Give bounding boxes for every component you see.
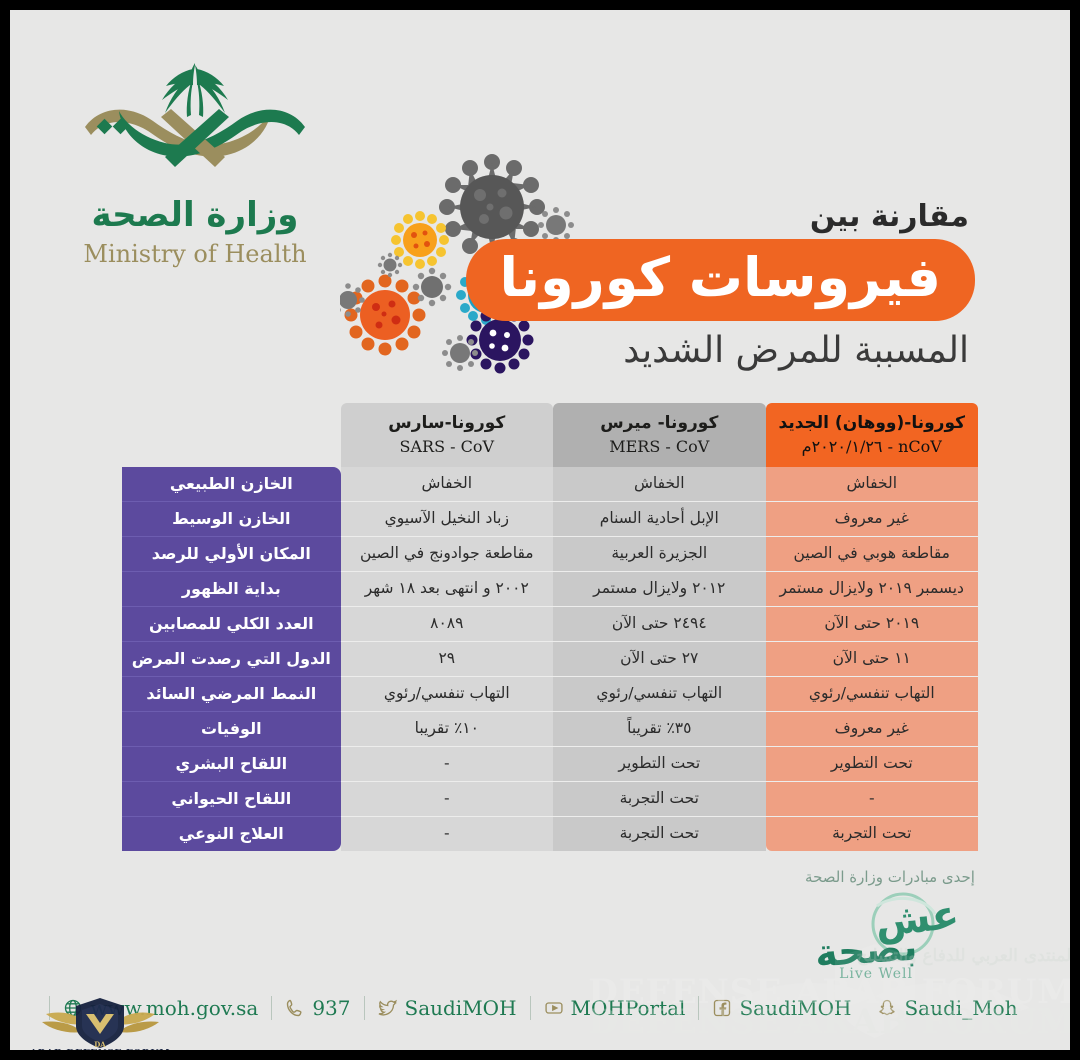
snapchat-icon bbox=[877, 998, 897, 1018]
cell-mers: الخفاش bbox=[553, 467, 765, 502]
cell-sars: - bbox=[341, 817, 553, 851]
cell-mers: ٢٧ حتى الآن bbox=[553, 642, 765, 677]
footer-contact-text: Saudi_Moh bbox=[904, 996, 1017, 1020]
row-label: العلاج النوعي bbox=[122, 817, 341, 851]
cell-mers: تحت التطوير bbox=[553, 747, 765, 782]
header-sars-en: SARS - CoV bbox=[347, 437, 547, 457]
cell-mers: ٢٠١٢ ولايزال مستمر bbox=[553, 572, 765, 607]
live-well-logo: عش بصحة Live Well bbox=[785, 890, 995, 976]
table-row: ١١ حتى الآن٢٧ حتى الآن٢٩الدول التي رصدت … bbox=[122, 642, 978, 677]
youtube-icon bbox=[544, 998, 564, 1018]
column-header-labels-spacer bbox=[122, 403, 341, 467]
phone-icon bbox=[285, 998, 305, 1018]
footer-contact-text: 937 bbox=[312, 996, 350, 1020]
cell-ncov: غير معروف bbox=[766, 712, 978, 747]
table-row: مقاطعة هوبي في الصينالجزيرة العربيةمقاطع… bbox=[122, 537, 978, 572]
cell-ncov: تحت التجربة bbox=[766, 817, 978, 851]
cell-sars: ٢٩ bbox=[341, 642, 553, 677]
cell-mers: تحت التجربة bbox=[553, 817, 765, 851]
table-body: الخفاشالخفاشالخفاشالخازن الطبيعيغير معرو… bbox=[122, 467, 978, 851]
comparison-table-wrapper: كورونا-(ووهان) الجديد nCoV - ٢٠٢٠/١/٢٦م … bbox=[122, 403, 978, 851]
table-row: تحت التجربةتحت التجربة-العلاج النوعي bbox=[122, 817, 978, 851]
cell-ncov: غير معروف bbox=[766, 502, 978, 537]
title-main-badge: فيروسات كورونا bbox=[466, 239, 975, 321]
cell-sars: زباد النخيل الآسيوي bbox=[341, 502, 553, 537]
poster-title: مقارنة بين فيروسات كورونا المسببة للمرض … bbox=[355, 200, 975, 372]
table-row: غير معروف٣٥٪ تقريباً١٠٪ تقريباالوفيات bbox=[122, 712, 978, 747]
table-row: ٢٠١٩ حتى الآن٢٤٩٤ حتى الآن٨٠٨٩العدد الكل… bbox=[122, 607, 978, 642]
cell-mers: ٣٥٪ تقريباً bbox=[553, 712, 765, 747]
footer-contact-text: SaudiMOH bbox=[405, 996, 517, 1020]
cell-ncov: الخفاش bbox=[766, 467, 978, 502]
moh-emblem-icon bbox=[65, 55, 325, 195]
cell-sars: ١٠٪ تقريبا bbox=[341, 712, 553, 747]
table-row: الخفاشالخفاشالخفاشالخازن الطبيعي bbox=[122, 467, 978, 502]
table-row: -تحت التجربة-اللقاح الحيواني bbox=[122, 782, 978, 817]
cell-mers: الإبل أحادية السنام bbox=[553, 502, 765, 537]
live-well-english: Live Well bbox=[839, 966, 913, 982]
footer-contact-phone[interactable]: 937 bbox=[271, 996, 363, 1020]
cell-sars: مقاطعة جوادونج في الصين bbox=[341, 537, 553, 572]
initiative-caption: إحدى مبادرات وزارة الصحة bbox=[785, 868, 995, 886]
cell-mers: ٢٤٩٤ حتى الآن bbox=[553, 607, 765, 642]
footer-contact-snapchat[interactable]: Saudi_Moh bbox=[864, 996, 1030, 1020]
row-label: العدد الكلي للمصابين bbox=[122, 607, 341, 642]
cell-ncov: مقاطعة هوبي في الصين bbox=[766, 537, 978, 572]
table-row: غير معروفالإبل أحادية السنامزباد النخيل … bbox=[122, 502, 978, 537]
cell-sars: ٢٠٠٢ و انتهى بعد ١٨ شهر bbox=[341, 572, 553, 607]
live-well-initiative: إحدى مبادرات وزارة الصحة عش بصحة Live We… bbox=[785, 868, 995, 976]
footer-contact-twitter[interactable]: SaudiMOH bbox=[364, 996, 530, 1020]
coronavirus-comparison-table: كورونا-(ووهان) الجديد nCoV - ٢٠٢٠/١/٢٦م … bbox=[122, 403, 978, 851]
cell-sars: - bbox=[341, 782, 553, 817]
cell-sars: التهاب تنفسي/رئوي bbox=[341, 677, 553, 712]
cell-mers: الجزيرة العربية bbox=[553, 537, 765, 572]
arab-defense-forum-watermark: DA ARAB DEFENSE FORUM bbox=[28, 988, 173, 1050]
footer-contact-youtube[interactable]: MOHPortal bbox=[530, 996, 699, 1020]
table-header-row: كورونا-(ووهان) الجديد nCoV - ٢٠٢٠/١/٢٦م … bbox=[122, 403, 978, 467]
cell-mers: تحت التجربة bbox=[553, 782, 765, 817]
cell-sars: ٨٠٨٩ bbox=[341, 607, 553, 642]
table-row: تحت التطويرتحت التطوير-اللقاح البشري bbox=[122, 747, 978, 782]
logo-english-name: Ministry of Health bbox=[65, 240, 325, 268]
cell-ncov: ديسمبر ٢٠١٩ ولايزال مستمر bbox=[766, 572, 978, 607]
row-label: الخازن الوسيط bbox=[122, 502, 341, 537]
table-row: ديسمبر ٢٠١٩ ولايزال مستمر٢٠١٢ ولايزال مس… bbox=[122, 572, 978, 607]
header-mers-en: MERS - CoV bbox=[559, 437, 759, 457]
row-label: اللقاح البشري bbox=[122, 747, 341, 782]
cell-mers: التهاب تنفسي/رئوي bbox=[553, 677, 765, 712]
facebook-icon bbox=[712, 998, 732, 1018]
footer-contact-text: SaudiMOH bbox=[739, 996, 851, 1020]
ministry-of-health-logo: وزارة الصحة Ministry of Health bbox=[65, 55, 325, 270]
cell-ncov: التهاب تنفسي/رئوي bbox=[766, 677, 978, 712]
cell-ncov: تحت التطوير bbox=[766, 747, 978, 782]
row-label: اللقاح الحيواني bbox=[122, 782, 341, 817]
cell-sars: - bbox=[341, 747, 553, 782]
cell-ncov: - bbox=[766, 782, 978, 817]
cell-sars: الخفاش bbox=[341, 467, 553, 502]
footer-contact-facebook[interactable]: SaudiMOH bbox=[698, 996, 864, 1020]
row-label: الخازن الطبيعي bbox=[122, 467, 341, 502]
poster-canvas: وزارة الصحة Ministry of Health bbox=[10, 10, 1070, 1050]
svg-text:ARAB DEFENSE FORUM: ARAB DEFENSE FORUM bbox=[29, 1048, 170, 1050]
logo-arabic-name: وزارة الصحة bbox=[65, 195, 325, 235]
header-ncov-ar: كورونا-(ووهان) الجديد bbox=[779, 413, 965, 433]
column-header-ncov: كورونا-(ووهان) الجديد nCoV - ٢٠٢٠/١/٢٦م bbox=[766, 403, 978, 467]
cell-ncov: ١١ حتى الآن bbox=[766, 642, 978, 677]
title-prefix: مقارنة بين bbox=[355, 200, 975, 233]
header-ncov-en: nCoV - ٢٠٢٠/١/٢٦م bbox=[772, 437, 972, 457]
column-header-sars: كورونا-سارس SARS - CoV bbox=[341, 403, 553, 467]
footer-contact-text: MOHPortal bbox=[571, 996, 686, 1020]
row-label: بداية الظهور bbox=[122, 572, 341, 607]
title-subtitle: المسببة للمرض الشديد bbox=[355, 329, 975, 372]
row-label: النمط المرضي السائد bbox=[122, 677, 341, 712]
row-label: المكان الأولي للرصد bbox=[122, 537, 341, 572]
table-row: التهاب تنفسي/رئويالتهاب تنفسي/رئويالتهاب… bbox=[122, 677, 978, 712]
header-sars-ar: كورونا-سارس bbox=[388, 413, 505, 433]
cell-ncov: ٢٠١٩ حتى الآن bbox=[766, 607, 978, 642]
row-label: الوفيات bbox=[122, 712, 341, 747]
column-header-mers: كورونا- ميرس MERS - CoV bbox=[553, 403, 765, 467]
header-mers-ar: كورونا- ميرس bbox=[600, 413, 718, 433]
row-label: الدول التي رصدت المرض bbox=[122, 642, 341, 677]
twitter-icon bbox=[378, 998, 398, 1018]
